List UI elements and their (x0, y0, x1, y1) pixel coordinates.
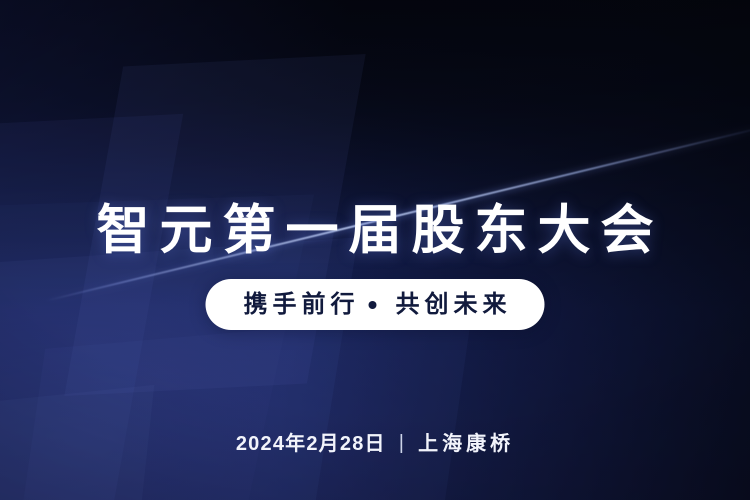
slogan-left: 携手前行 (239, 293, 360, 317)
banner-content: 智元第一届股东大会 携手前行 共创未来 2024年2月28日|上海康桥 (0, 0, 750, 500)
slogan-pill: 携手前行 共创未来 (206, 279, 545, 330)
slogan-dot-icon (369, 301, 377, 309)
event-venue: 上海康桥 (418, 433, 514, 455)
event-date: 2024年2月28日 (236, 433, 386, 455)
event-banner: 智元第一届股东大会 携手前行 共创未来 2024年2月28日|上海康桥 (0, 0, 750, 500)
banner-title: 智元第一届股东大会 (0, 198, 750, 264)
slogan-text: 携手前行 共创未来 (239, 293, 512, 317)
banner-footer: 2024年2月28日|上海康桥 (0, 430, 750, 458)
footer-separator: | (399, 429, 405, 457)
slogan-right: 共创未来 (391, 293, 512, 317)
